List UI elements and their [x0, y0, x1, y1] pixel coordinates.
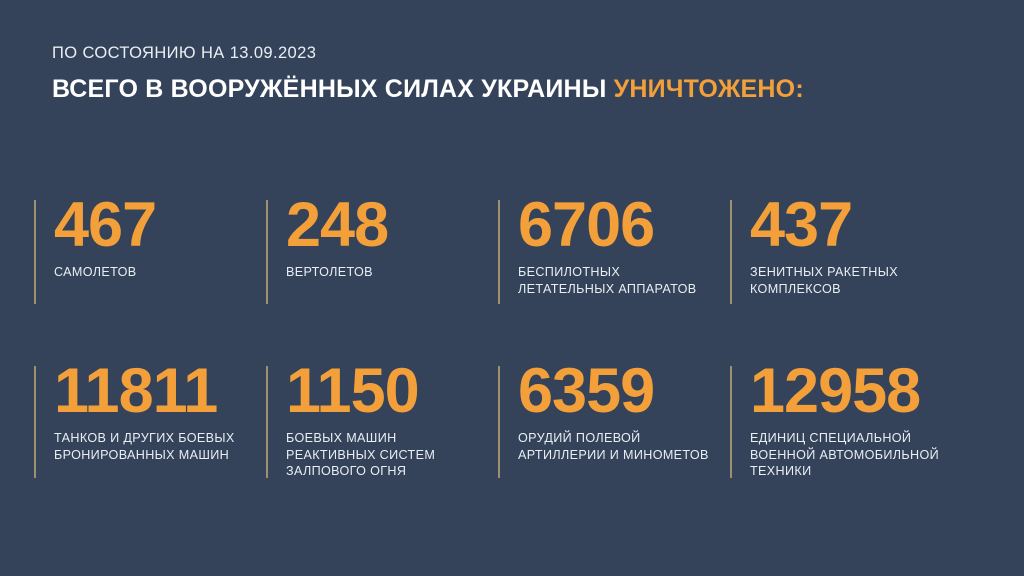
stat-value: 248	[286, 196, 498, 255]
infographic-poster: ПО СОСТОЯНИЮ НА 13.09.2023 ВСЕГО В ВООРУ…	[0, 0, 1024, 576]
stat-cell-tanks: 11811 ТАНКОВ И ДРУГИХ БОЕВЫХ БРОНИРОВАНН…	[34, 362, 266, 502]
stat-label: ТАНКОВ И ДРУГИХ БОЕВЫХ БРОНИРОВАННЫХ МАШ…	[54, 430, 266, 463]
stat-label: ОРУДИЙ ПОЛЕВОЙ АРТИЛЛЕРИИ И МИНОМЕТОВ	[518, 430, 730, 463]
page-title: ВСЕГО В ВООРУЖЁННЫХ СИЛАХ УКРАИНЫ УНИЧТО…	[52, 75, 992, 104]
stat-value: 437	[750, 196, 962, 255]
stat-label: ЗЕНИТНЫХ РАКЕТНЫХ КОМПЛЕКСОВ	[750, 264, 962, 297]
page-title-accent: УНИЧТОЖЕНО:	[614, 75, 804, 103]
stat-value: 467	[54, 196, 266, 255]
stat-value: 6706	[518, 196, 730, 255]
stat-label: САМОЛЕТОВ	[54, 264, 266, 281]
page-title-main: ВСЕГО В ВООРУЖЁННЫХ СИЛАХ УКРАИНЫ	[52, 75, 614, 103]
stat-label: БОЕВЫХ МАШИН РЕАКТИВНЫХ СИСТЕМ ЗАЛПОВОГО…	[286, 430, 498, 480]
stat-cell-helicopters: 248 ВЕРТОЛЕТОВ	[266, 196, 498, 362]
stat-cell-mlrs: 1150 БОЕВЫХ МАШИН РЕАКТИВНЫХ СИСТЕМ ЗАЛП…	[266, 362, 498, 502]
stat-label: ВЕРТОЛЕТОВ	[286, 264, 498, 281]
stat-label: БЕСПИЛОТНЫХ ЛЕТАТЕЛЬНЫХ АППАРАТОВ	[518, 264, 730, 297]
statistics-row-2: 11811 ТАНКОВ И ДРУГИХ БОЕВЫХ БРОНИРОВАНН…	[34, 362, 994, 502]
statistics-grid: 467 САМОЛЕТОВ 248 ВЕРТОЛЕТОВ 6706 БЕСПИЛ…	[34, 196, 994, 502]
stat-value: 6359	[518, 362, 730, 421]
stat-cell-artillery: 6359 ОРУДИЙ ПОЛЕВОЙ АРТИЛЛЕРИИ И МИНОМЕТ…	[498, 362, 730, 502]
stat-cell-drones: 6706 БЕСПИЛОТНЫХ ЛЕТАТЕЛЬНЫХ АППАРАТОВ	[498, 196, 730, 362]
statistics-row-1: 467 САМОЛЕТОВ 248 ВЕРТОЛЕТОВ 6706 БЕСПИЛ…	[34, 196, 994, 362]
stat-value: 12958	[750, 362, 962, 421]
stat-cell-military-vehicles: 12958 ЕДИНИЦ СПЕЦИАЛЬНОЙ ВОЕННОЙ АВТОМОБ…	[730, 362, 962, 502]
report-date-line: ПО СОСТОЯНИЮ НА 13.09.2023	[52, 44, 992, 63]
stat-value: 1150	[286, 362, 498, 421]
stat-cell-aircraft: 467 САМОЛЕТОВ	[34, 196, 266, 362]
header: ПО СОСТОЯНИЮ НА 13.09.2023 ВСЕГО В ВООРУ…	[52, 44, 992, 104]
stat-value: 11811	[54, 362, 266, 421]
stat-label: ЕДИНИЦ СПЕЦИАЛЬНОЙ ВОЕННОЙ АВТОМОБИЛЬНОЙ…	[750, 430, 962, 480]
stat-cell-air-defence: 437 ЗЕНИТНЫХ РАКЕТНЫХ КОМПЛЕКСОВ	[730, 196, 962, 362]
